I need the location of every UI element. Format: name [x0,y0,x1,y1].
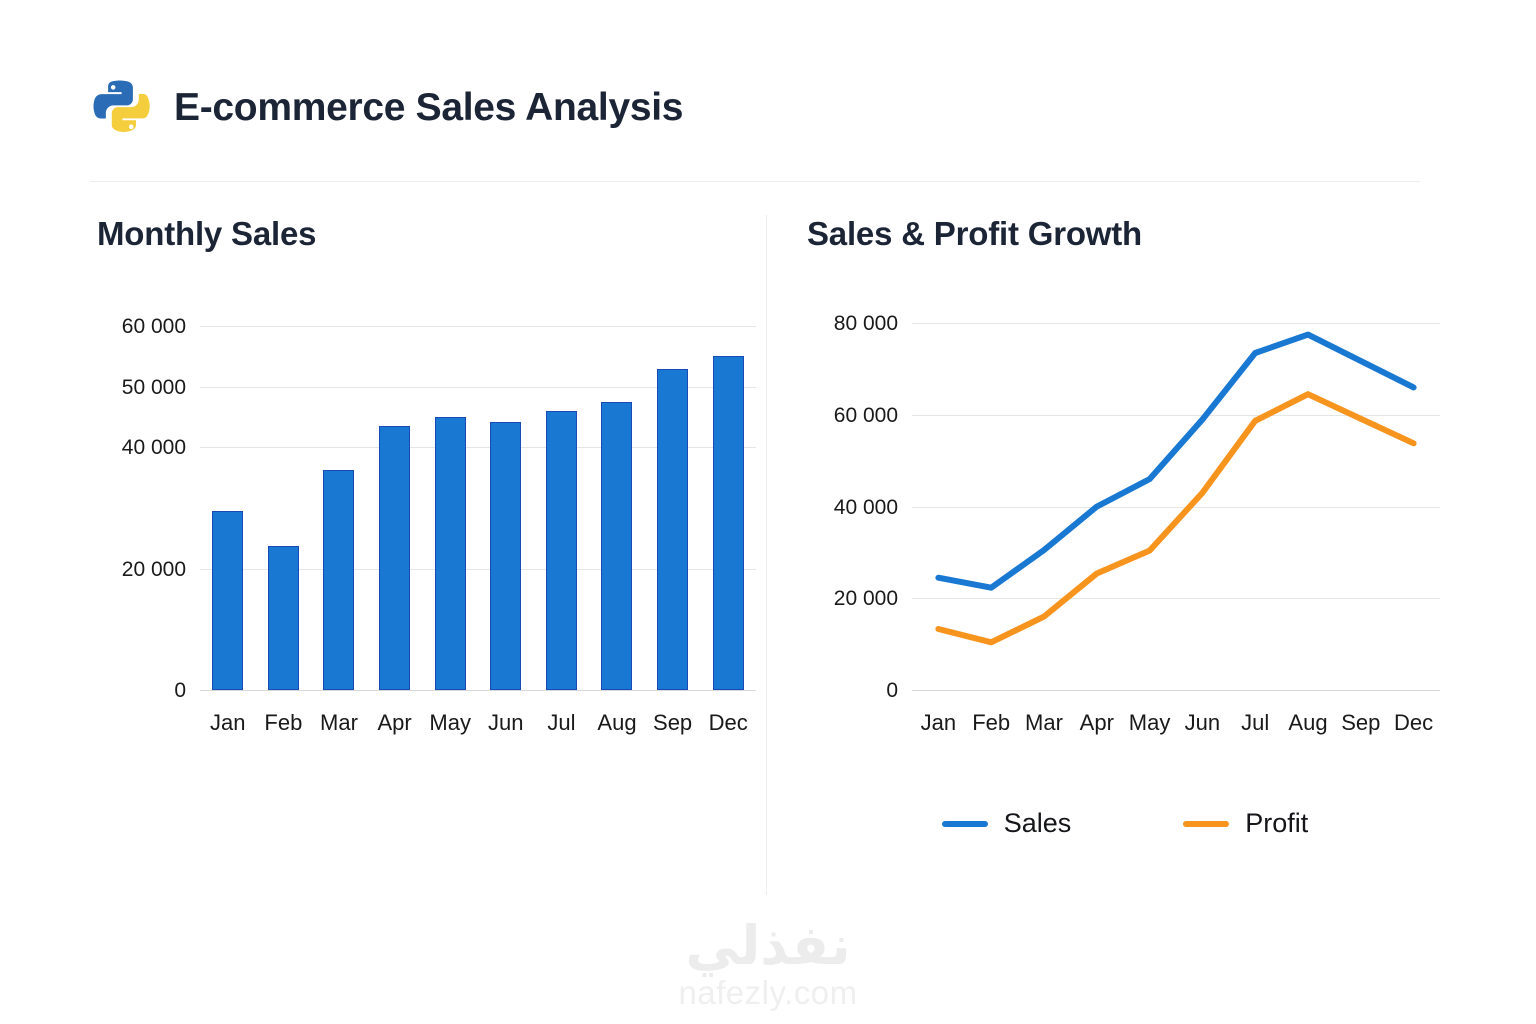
bar [268,546,299,690]
monthly-sales-chart: 020 00040 00050 00060 000JanFebMarAprMay… [90,290,766,730]
sales-profit-growth-title: Sales & Profit Growth [807,217,1142,250]
bar [546,411,577,690]
x-axis-tick-label: Feb [256,712,312,734]
line-series-sales [938,335,1413,588]
y-axis-tick-label: 40 000 [90,437,186,458]
legend-item-profit[interactable]: Profit [1183,810,1308,837]
bar [713,356,744,690]
x-axis-tick-label: Apr [367,712,423,734]
x-axis-tick-label: Jun [478,712,534,734]
x-axis-tick-label: May [422,712,478,734]
legend-label: Sales [1004,810,1072,837]
python-logo-icon [90,76,152,138]
panel-divider [766,215,767,895]
bar [212,511,243,690]
charts-container: Monthly Sales 020 00040 00050 00060 000J… [0,195,1536,895]
gridline [200,326,756,327]
x-axis-tick-label: Jul [534,712,590,734]
watermark-arabic: نفذلي [0,918,1536,975]
x-axis-tick-label: Dec [700,712,756,734]
x-axis-tick-label: Aug [589,712,645,734]
page-header: E-commerce Sales Analysis [90,76,683,138]
line-series-group [800,290,1450,730]
bar [601,402,632,690]
line-series-profit [938,394,1413,642]
bar [323,470,354,690]
monthly-sales-panel: Monthly Sales 020 00040 00050 00060 000J… [90,195,766,895]
watermark-domain: nafezly.com [0,975,1536,1011]
y-axis-tick-label: 50 000 [90,377,186,398]
legend-swatch-icon [1183,821,1229,827]
chart-legend: SalesProfit [800,810,1450,837]
report-page: E-commerce Sales Analysis Monthly Sales … [0,0,1536,1024]
x-axis-tick-label: Sep [645,712,701,734]
y-axis-tick-label: 0 [90,680,186,701]
bar [490,422,521,690]
x-axis-tick-label: Jan [200,712,256,734]
y-axis-tick-label: 20 000 [90,559,186,580]
bar [435,417,466,690]
y-axis-tick-label: 60 000 [90,316,186,337]
x-axis-tick-label: Mar [311,712,367,734]
watermark: نفذلي nafezly.com [0,918,1536,1011]
legend-label: Profit [1245,810,1308,837]
monthly-sales-title: Monthly Sales [97,217,316,250]
page-title: E-commerce Sales Analysis [174,88,683,127]
sales-profit-growth-panel: Sales & Profit Growth 020 00040 00060 00… [800,195,1450,895]
legend-swatch-icon [942,821,988,827]
legend-item-sales[interactable]: Sales [942,810,1072,837]
bar [379,426,410,690]
sales-profit-growth-chart: 020 00040 00060 00080 000JanFebMarAprMay… [800,290,1450,730]
axis-line-zero [200,690,756,691]
bar [657,369,688,690]
header-divider [90,181,1420,182]
